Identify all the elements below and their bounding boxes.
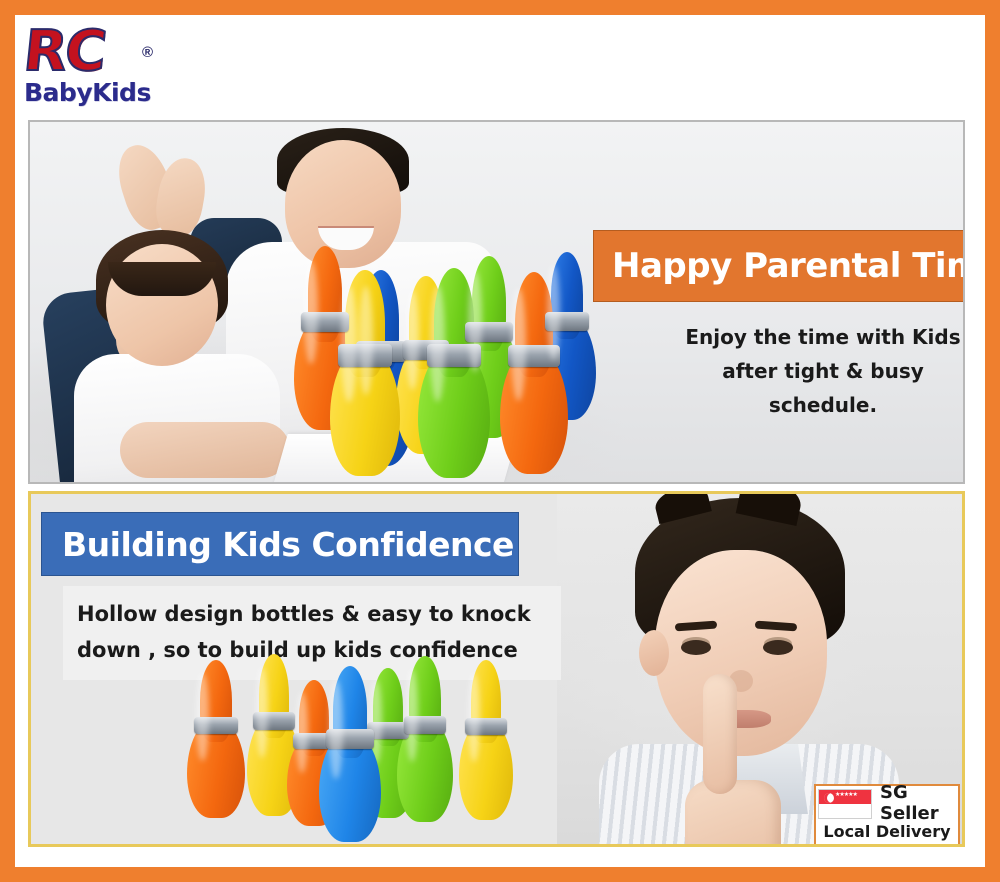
sg-seller-badge: ★★★★★ SG Seller Local Delivery xyxy=(814,784,960,846)
caption-line: Hollow design bottles & easy to knock xyxy=(77,596,547,632)
daughter-bangs xyxy=(108,262,216,296)
family-photo xyxy=(30,122,963,482)
boy-ear xyxy=(639,630,669,676)
registered-trademark-icon: ® xyxy=(142,44,153,61)
banner-label: Building Kids Confidence xyxy=(62,525,514,564)
happy-parental-time-banner: Happy Parental Time xyxy=(593,230,965,302)
caption-line: Enjoy the time with Kids xyxy=(678,320,965,354)
hands xyxy=(120,422,290,478)
crescent-icon xyxy=(824,793,834,803)
happy-parental-time-panel: Happy Parental Time Enjoy the time with … xyxy=(28,120,965,484)
bowling-pin xyxy=(319,666,381,842)
caption-line: after tight & busy schedule. xyxy=(678,354,965,422)
brand-logo: RC ® BabyKids xyxy=(24,24,194,116)
boy-fist xyxy=(685,780,781,844)
bowling-pin xyxy=(397,656,453,822)
stars-icon: ★★★★★ xyxy=(835,793,857,798)
bowling-pin xyxy=(459,660,513,820)
parental-time-caption: Enjoy the time with Kids after tight & b… xyxy=(678,320,965,422)
singapore-flag-icon: ★★★★★ xyxy=(818,789,872,819)
building-kids-confidence-banner: Building Kids Confidence xyxy=(41,512,519,576)
local-delivery-label: Local Delivery xyxy=(816,820,958,844)
building-kids-confidence-panel: Building Kids Confidence Hollow design b… xyxy=(28,491,965,847)
logo-mark-rc: RC xyxy=(21,24,107,80)
sg-seller-row: ★★★★★ SG Seller xyxy=(816,786,958,820)
thumbs-up-icon xyxy=(703,674,737,794)
boy-eye xyxy=(763,640,793,655)
bowling-pin xyxy=(187,660,245,818)
bowling-pin-set xyxy=(181,642,511,832)
product-listing-image: RC ® BabyKids xyxy=(0,0,1000,882)
sg-seller-label: SG Seller xyxy=(880,782,958,824)
boy-eye xyxy=(681,640,711,655)
banner-label: Happy Parental Time xyxy=(612,246,965,286)
